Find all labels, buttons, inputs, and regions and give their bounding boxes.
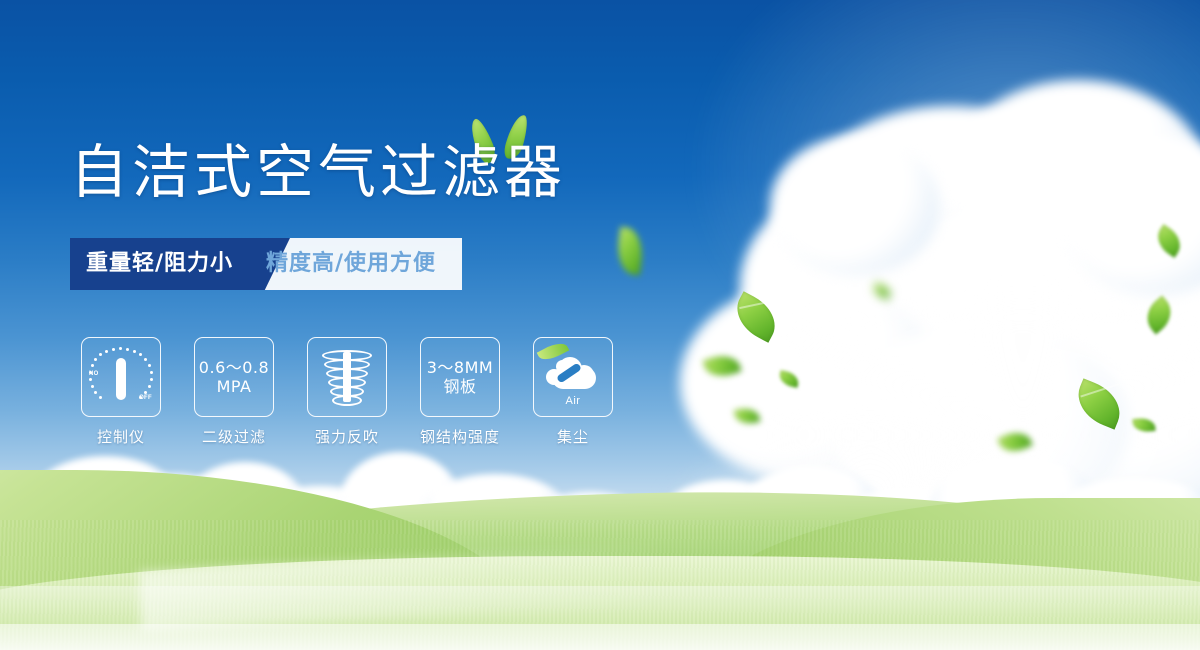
- feature-item-two-stage[interactable]: 0.6～0.8 MPA 二级过滤: [195, 337, 273, 447]
- gauge-needle: [116, 358, 126, 400]
- steel-icon: 3～8MM 钢板: [427, 358, 493, 396]
- feature-icon-box: 0.6～0.8 MPA: [194, 337, 274, 417]
- banner-content: 自洁式空气过滤器 重量轻/阻力小 精度高/使用方便: [0, 0, 1200, 650]
- feature-icon-box: 3～8MM 钢板: [420, 337, 500, 417]
- pressure-value: 0.6～0.8: [199, 358, 269, 377]
- feature-label: 强力反吹: [315, 426, 379, 447]
- feature-icon-box: NO OFF: [81, 337, 161, 417]
- steel-material: 钢板: [427, 377, 493, 396]
- cloud-air-icon: Air: [542, 351, 604, 403]
- pressure-unit: MPA: [199, 377, 269, 396]
- feature-item-backblow[interactable]: 强力反吹: [308, 337, 386, 447]
- feature-icon-box: [307, 337, 387, 417]
- gauge-label-min: NO: [89, 371, 99, 377]
- gauge-icon: NO OFF: [88, 344, 154, 410]
- tagline-bar: 重量轻/阻力小 精度高/使用方便: [70, 238, 462, 290]
- air-label: Air: [542, 395, 604, 407]
- feature-label: 集尘: [557, 426, 589, 447]
- coil-icon: [319, 348, 375, 406]
- feature-icon-box: Air: [533, 337, 613, 417]
- banner-stage: 自洁式空气过滤器 重量轻/阻力小 精度高/使用方便: [0, 0, 1200, 650]
- feature-label: 钢结构强度: [420, 426, 500, 447]
- pressure-icon: 0.6～0.8 MPA: [199, 358, 269, 396]
- feature-list: NO OFF 控制仪 0.6～0.8 MPA 二级过滤: [82, 337, 612, 447]
- gauge-label-max: OFF: [139, 395, 152, 401]
- feature-label: 二级过滤: [202, 426, 266, 447]
- page-title: 自洁式空气过滤器: [70, 143, 566, 201]
- feature-item-control-gauge[interactable]: NO OFF 控制仪: [82, 337, 160, 447]
- tagline-secondary: 精度高/使用方便: [266, 238, 436, 290]
- feature-label: 控制仪: [97, 426, 145, 447]
- feature-item-steel[interactable]: 3～8MM 钢板 钢结构强度: [421, 337, 499, 447]
- tagline-primary: 重量轻/阻力小: [86, 238, 233, 290]
- steel-thickness: 3～8MM: [427, 358, 493, 377]
- feature-item-dust[interactable]: Air 集尘: [534, 337, 612, 447]
